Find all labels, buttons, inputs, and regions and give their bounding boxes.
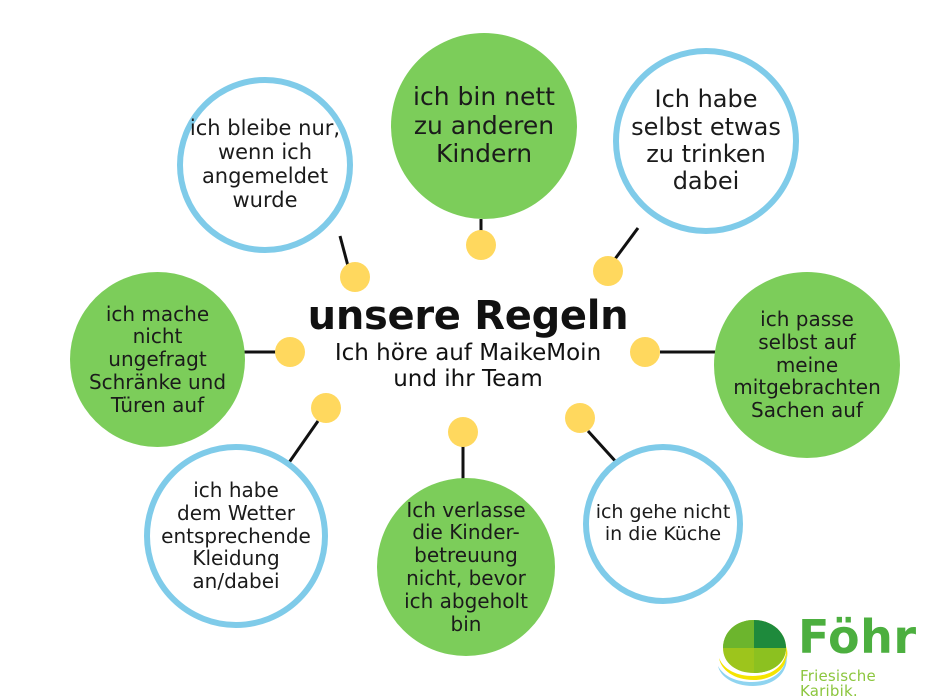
island-shape bbox=[723, 620, 786, 673]
rule-text-sachen: ich passe selbst auf meine mitgebrachten… bbox=[720, 308, 894, 422]
rule-bubble-anmeldung[interactable]: ich bleibe nur, wenn ich angemeldet wurd… bbox=[177, 77, 353, 253]
connector-line-trinken bbox=[615, 228, 638, 259]
foehr-wordmark: Föhr bbox=[798, 614, 917, 660]
foehr-island-icon bbox=[716, 616, 792, 688]
connector-dot-nett bbox=[466, 230, 496, 260]
rule-text-schraenke: ich mache nicht ungefragt Schränke und T… bbox=[76, 303, 239, 417]
rule-bubble-trinken[interactable]: Ich habe selbst etwas zu trinken dabei bbox=[613, 48, 799, 234]
rule-text-trinken: Ich habe selbst etwas zu trinken dabei bbox=[625, 86, 787, 195]
rule-text-abholen: Ich verlasse die Kinder- betreuung nicht… bbox=[383, 499, 549, 636]
connector-dot-kleidung bbox=[311, 393, 341, 423]
rule-text-kueche: ich gehe nicht in die Küche bbox=[595, 502, 731, 545]
rule-bubble-sachen[interactable]: ich passe selbst auf meine mitgebrachten… bbox=[714, 272, 900, 458]
rule-bubble-nett[interactable]: ich bin nett zu anderen Kindern bbox=[391, 33, 577, 219]
rule-bubble-abholen[interactable]: Ich verlasse die Kinder- betreuung nicht… bbox=[377, 478, 555, 656]
connector-dot-trinken bbox=[593, 256, 623, 286]
rule-bubble-kueche[interactable]: ich gehe nicht in die Küche bbox=[583, 444, 743, 604]
page-title: unsere Regeln bbox=[253, 295, 683, 337]
page-subtitle: Ich höre auf MaikeMoin und ihr Team bbox=[253, 341, 683, 393]
connector-dot-abholen bbox=[448, 417, 478, 447]
foehr-logo[interactable]: Föhr Friesische Karibik. bbox=[716, 614, 922, 694]
rule-text-anmeldung: ich bleibe nur, wenn ich angemeldet wurd… bbox=[189, 117, 341, 213]
rule-text-nett: ich bin nett zu anderen Kindern bbox=[397, 83, 571, 169]
connector-line-kleidung bbox=[288, 421, 318, 464]
poster-canvas: ich bleibe nur, wenn ich angemeldet wurd… bbox=[0, 0, 933, 700]
foehr-tagline: Friesische Karibik. bbox=[800, 669, 922, 699]
rule-bubble-kleidung[interactable]: ich habe dem Wetter entsprechende Kleidu… bbox=[144, 444, 328, 628]
connector-dot-kueche bbox=[565, 403, 595, 433]
center-block: unsere Regeln Ich höre auf MaikeMoin und… bbox=[253, 295, 683, 393]
rule-text-kleidung: ich habe dem Wetter entsprechende Kleidu… bbox=[156, 479, 316, 593]
connector-line-anmeldung bbox=[340, 236, 348, 266]
connector-dot-anmeldung bbox=[340, 262, 370, 292]
connector-line-kueche bbox=[588, 431, 617, 463]
rule-bubble-schraenke[interactable]: ich mache nicht ungefragt Schränke und T… bbox=[70, 272, 245, 447]
